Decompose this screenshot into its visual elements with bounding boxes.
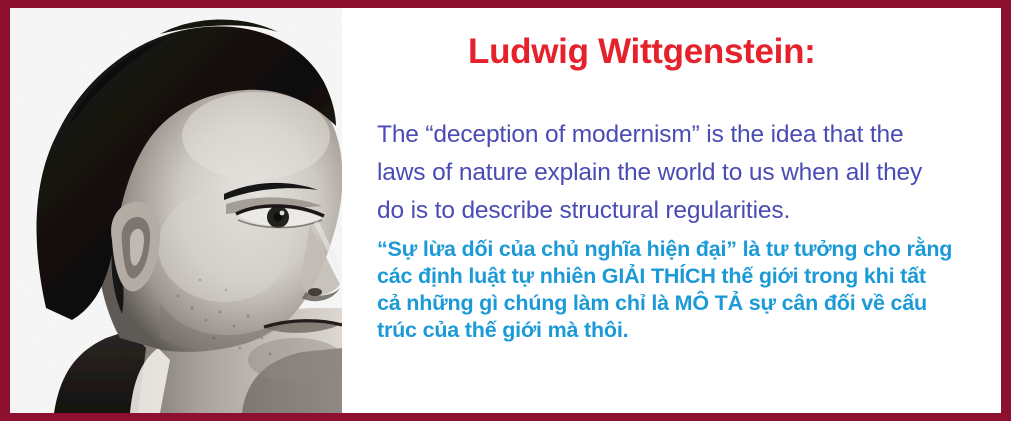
vietnamese-quote-line: cả những gì chúng làm chỉ là MÔ TẢ sự câ…	[377, 290, 1001, 317]
english-quote: The “deception of modernism” is the idea…	[377, 116, 947, 230]
portrait-photo-icon	[10, 8, 342, 413]
quote-slide: Ludwig Wittgenstein: The “deception of m…	[0, 0, 1011, 421]
page-title: Ludwig Wittgenstein:	[468, 32, 816, 72]
text-column: Ludwig Wittgenstein: The “deception of m…	[365, 8, 1001, 413]
vietnamese-quote-line: các định luật tự nhiên GIẢI THÍCH thế gi…	[377, 263, 1001, 290]
slide-inner: Ludwig Wittgenstein: The “deception of m…	[10, 8, 1001, 413]
vietnamese-quote-line: “Sự lừa dối của chủ nghĩa hiện đại” là t…	[377, 236, 1001, 263]
vietnamese-quote-line: trúc của thế giới mà thôi.	[377, 317, 1001, 344]
portrait-photo	[10, 8, 342, 413]
vietnamese-quote: “Sự lừa dối của chủ nghĩa hiện đại” là t…	[377, 236, 1001, 344]
